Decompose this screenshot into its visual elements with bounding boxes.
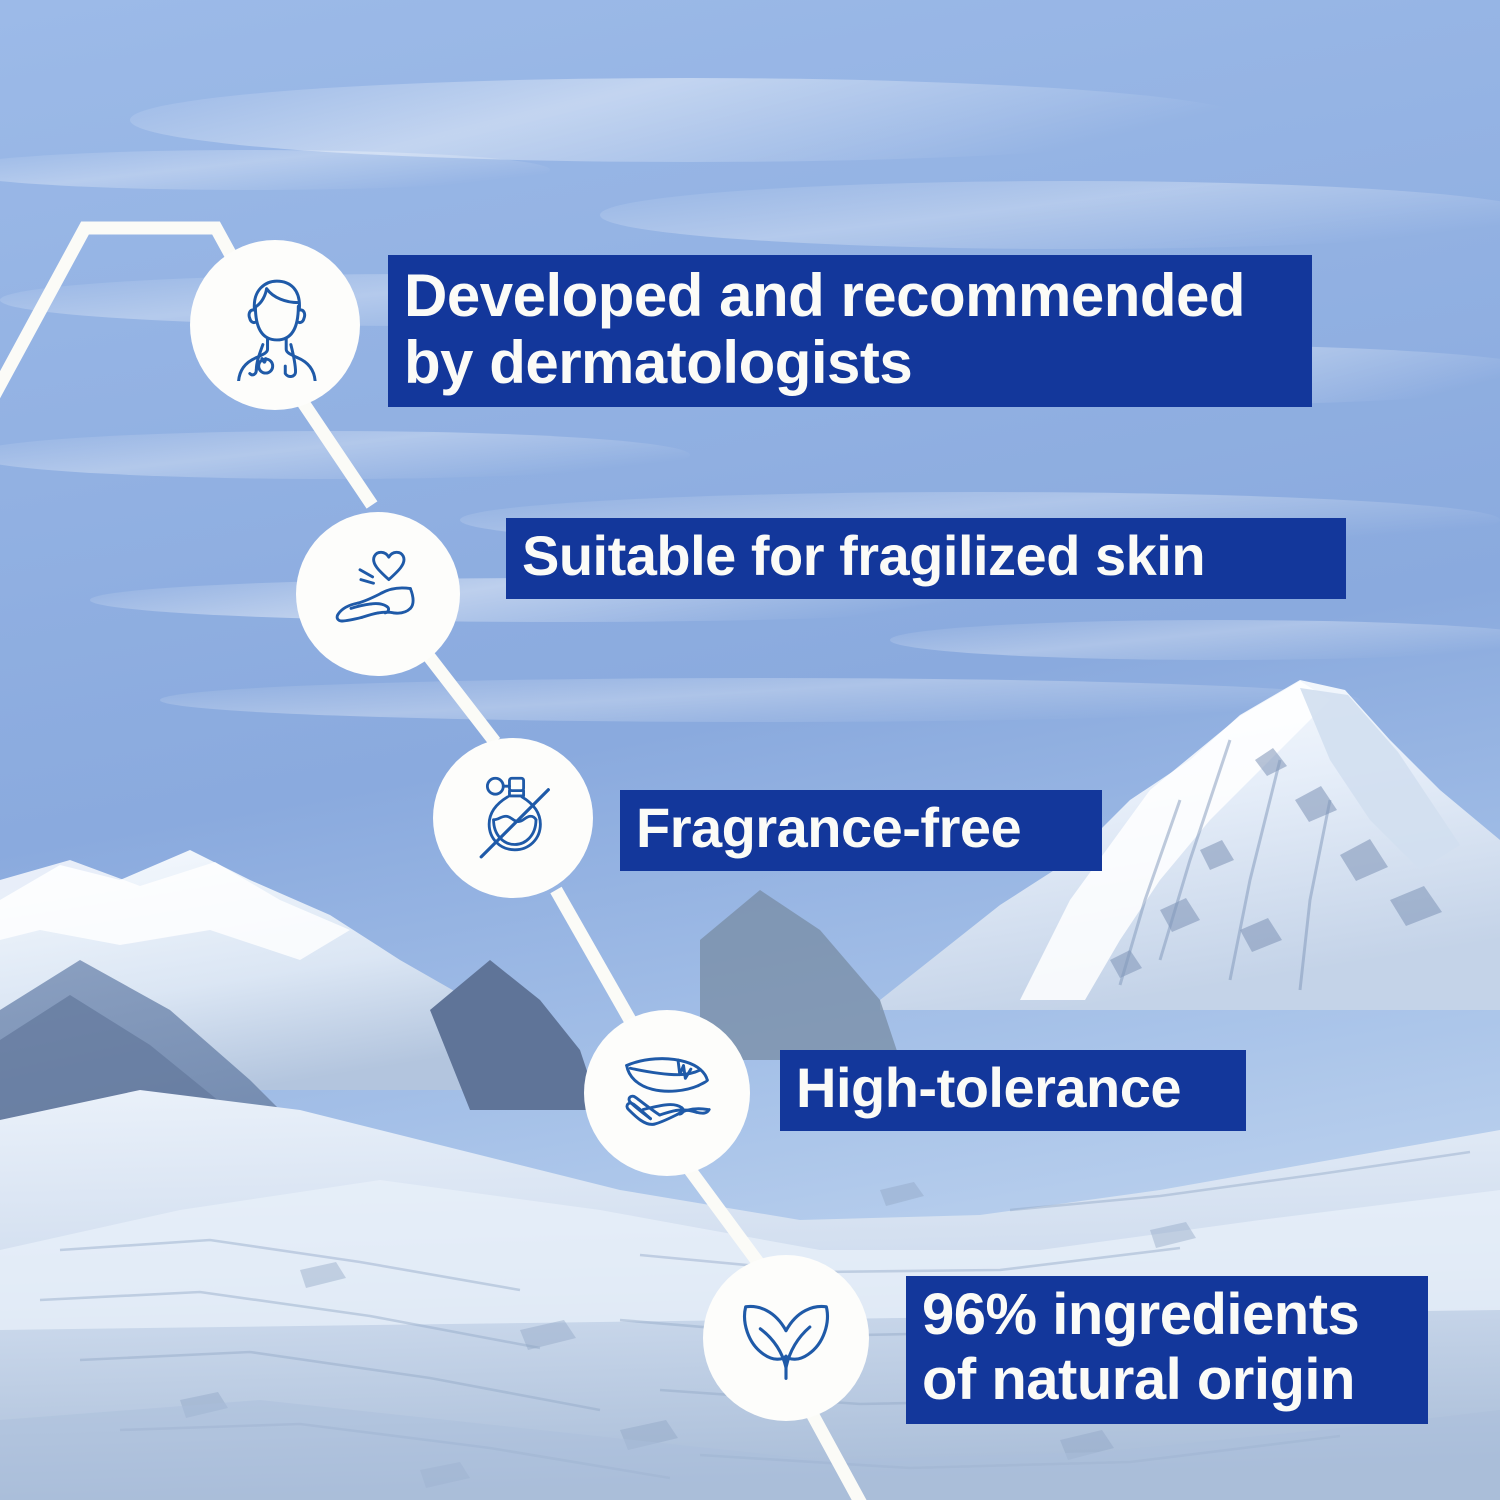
leaves-badge (703, 1255, 869, 1421)
feather-hand-badge (584, 1010, 750, 1176)
doctor-badge (190, 240, 360, 410)
feature-banner-natural-origin: 96% ingredients of natural origin (906, 1276, 1428, 1424)
hand-heart-icon (324, 540, 432, 648)
infographic-canvas: Developed and recommended by dermatologi… (0, 0, 1500, 1500)
leaves-icon (731, 1283, 841, 1393)
feature-banner-high-tolerance: High-tolerance (780, 1050, 1246, 1131)
feature-banner-fragilized-skin: Suitable for fragilized skin (506, 518, 1346, 599)
feature-banner-fragrance-free: Fragrance-free (620, 790, 1102, 871)
no-perfume-icon (460, 765, 566, 871)
feature-banner-dermatologists: Developed and recommended by dermatologi… (388, 255, 1312, 407)
feather-hand-icon (612, 1038, 722, 1148)
doctor-icon (219, 269, 331, 381)
hand-heart-badge (296, 512, 460, 676)
no-perfume-badge (433, 738, 593, 898)
